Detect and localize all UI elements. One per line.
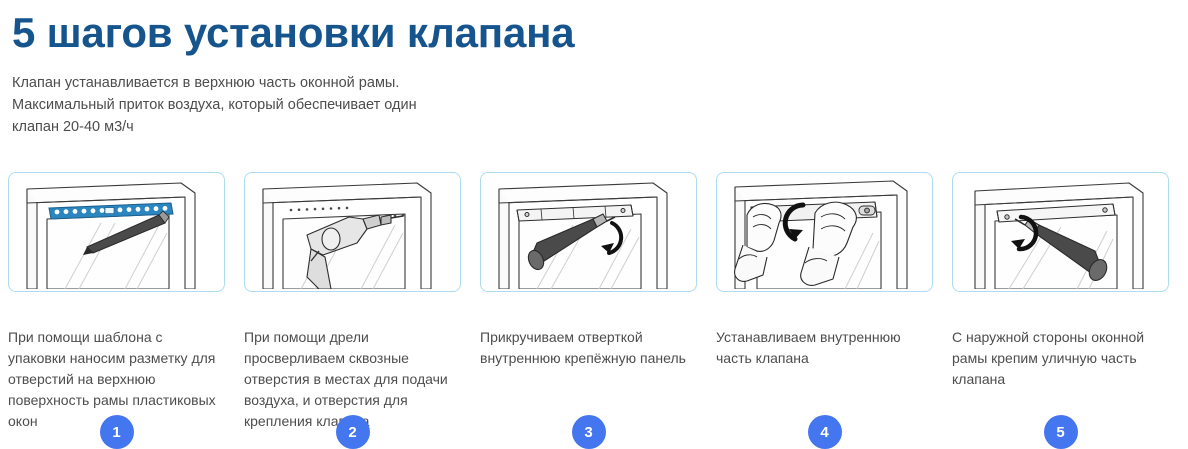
steps-grid: 1 При помощи шаблона с упаковки наносим …: [8, 172, 1180, 432]
installation-steps-page: 5 шагов установки клапана Клапан устанав…: [0, 0, 1188, 420]
step-number-badge-3: 3: [572, 415, 606, 449]
step-caption-3: Прикручиваем отверткой внутреннюю крепёж…: [480, 327, 697, 369]
step-illustration-card-4: [716, 172, 933, 292]
intro-line-1: Клапан устанавливается в верхнюю часть о…: [12, 72, 532, 94]
step-illustration-card-1: [8, 172, 225, 292]
step-card-5: 5 С наружной стороны оконной рамы крепим…: [952, 172, 1169, 432]
page-title: 5 шагов установки клапана: [8, 0, 1180, 58]
step-card-3: 3 Прикручиваем отверткой внутреннюю креп…: [480, 172, 697, 432]
window-frame-with-electric-drill-icon: [245, 173, 460, 289]
window-frame-outer-valve-part-with-screwdriver-icon: [953, 173, 1168, 289]
step-number-badge-4: 4: [808, 415, 842, 449]
step-illustration-card-2: [244, 172, 461, 292]
step-caption-5: С наружной стороны оконной рамы крепим у…: [952, 327, 1169, 390]
step-card-2: 2 При помощи дрели просверливаем сквозны…: [244, 172, 461, 432]
step-illustration-card-3: [480, 172, 697, 292]
intro-line-2: Максимальный приток воздуха, который обе…: [12, 94, 532, 116]
step-number-badge-1: 1: [100, 415, 134, 449]
step-illustration-card-5: [952, 172, 1169, 292]
hands-installing-inner-valve-part-icon: [717, 173, 932, 289]
intro-line-3: клапан 20-40 м3/ч: [12, 116, 532, 138]
step-number-badge-5: 5: [1044, 415, 1078, 449]
intro-paragraph: Клапан устанавливается в верхнюю часть о…: [12, 72, 532, 138]
window-frame-with-screwdriver-and-mounting-panel-icon: [481, 173, 696, 289]
window-frame-with-marking-template-and-pencil-icon: [9, 173, 224, 289]
step-card-1: 1 При помощи шаблона с упаковки наносим …: [8, 172, 225, 432]
step-caption-4: Устанавливаем внутреннюю часть клапана: [716, 327, 933, 369]
step-card-4: 4 Устанавливаем внутреннюю часть клапана: [716, 172, 933, 432]
step-number-badge-2: 2: [336, 415, 370, 449]
